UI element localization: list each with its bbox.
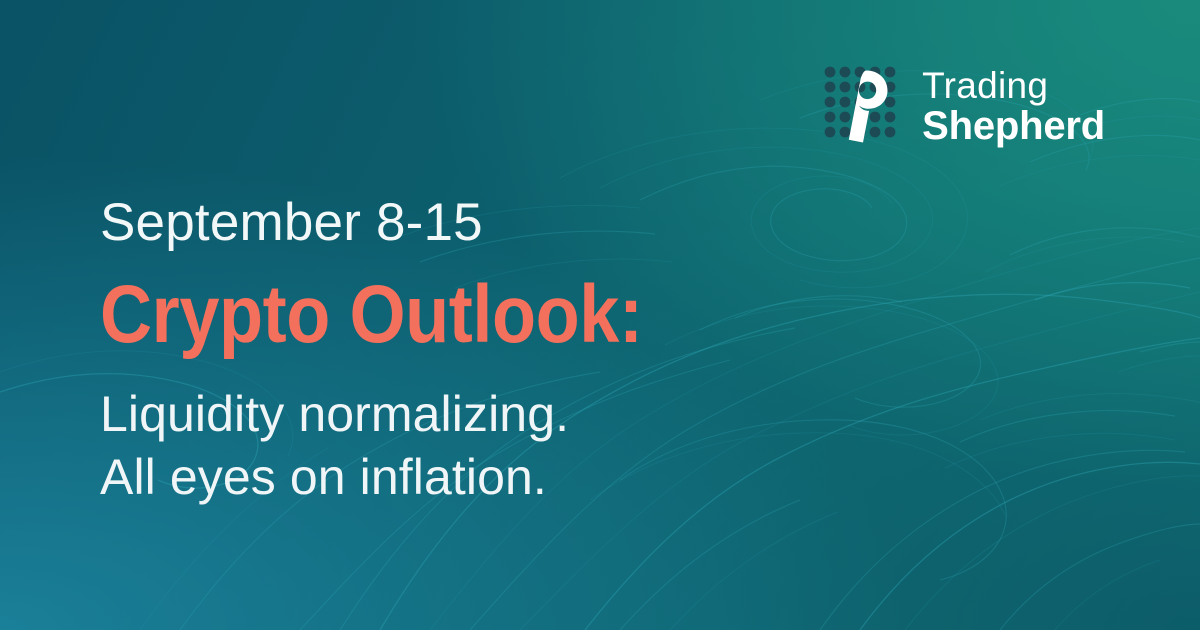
logo-mark: [822, 64, 906, 148]
subtitle-line-1: Liquidity normalizing.: [100, 383, 860, 446]
content-block: September 8-15 Crypto Outlook: Liquidity…: [100, 196, 860, 509]
social-card: Trading Shepherd September 8-15 Crypto O…: [0, 0, 1200, 630]
subtitle-line-2: All eyes on inflation.: [100, 446, 860, 509]
shepherd-p-monogram-icon: [822, 64, 906, 148]
brand-logo[interactable]: Trading Shepherd: [822, 64, 1105, 148]
logo-word-trading: Trading: [922, 67, 1105, 104]
date-range-label: September 8-15: [100, 196, 860, 249]
subtitle-block: Liquidity normalizing. All eyes on infla…: [100, 383, 860, 509]
logo-wordmark: Trading Shepherd: [922, 67, 1105, 146]
page-title: Crypto Outlook:: [100, 273, 769, 357]
logo-word-shepherd: Shepherd: [922, 106, 1105, 146]
